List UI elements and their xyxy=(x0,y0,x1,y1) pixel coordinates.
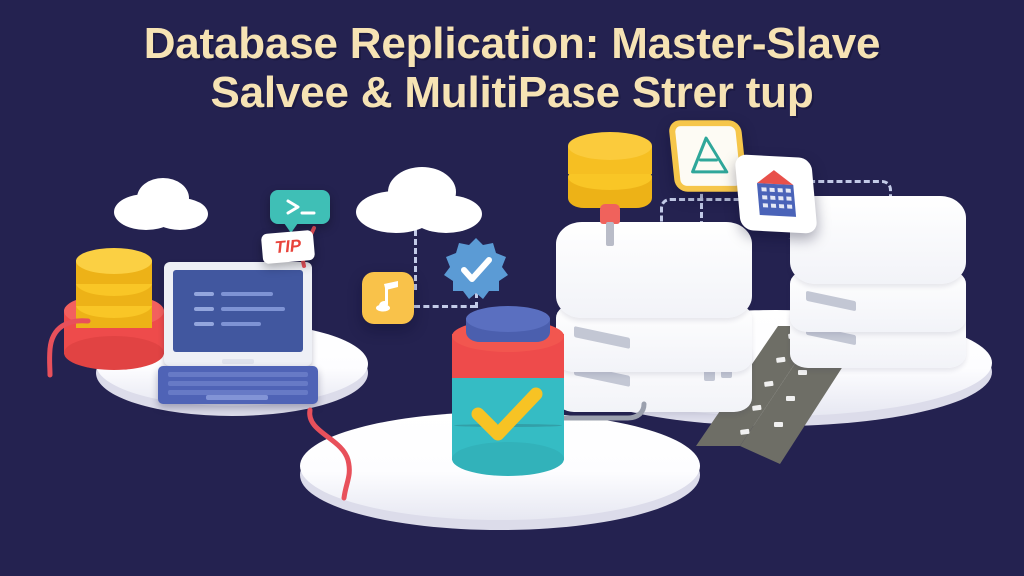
laptop-hinge xyxy=(222,359,254,364)
verified-badge-icon xyxy=(440,234,512,306)
database-cylinder-top xyxy=(562,132,658,242)
laptop-screen-row xyxy=(194,307,214,311)
laptop-screen xyxy=(173,270,303,352)
chat-bubble-icon xyxy=(270,190,330,224)
cable-center-to-rack xyxy=(556,396,676,446)
laptop-screen-row xyxy=(221,322,261,326)
db-top-stem xyxy=(606,222,614,246)
music-note-icon xyxy=(362,272,414,324)
db-top-nozzle xyxy=(600,204,620,224)
laptop-screen-row xyxy=(221,307,285,311)
calendar-glyph xyxy=(734,154,817,234)
laptop-screen-row xyxy=(194,322,214,326)
cloud-icon-left xyxy=(108,172,218,234)
server-rack-middle xyxy=(556,222,752,422)
cloud-icon-center xyxy=(352,160,492,238)
database-cylinder-center xyxy=(448,306,568,482)
checkmark-glyph xyxy=(448,306,568,482)
laptop-screen-row xyxy=(221,292,273,296)
calendar-card-icon xyxy=(734,154,817,234)
cable-platform-link xyxy=(288,402,448,512)
triangle-card-face xyxy=(675,126,742,186)
tip-badge: TIP xyxy=(261,230,315,264)
laptop-trackpad xyxy=(206,395,268,400)
tip-badge-label: TIP xyxy=(274,236,302,258)
illustration-canvas: Database Replication: Master-Slave Salve… xyxy=(0,0,1024,576)
db-left-disc1-top xyxy=(76,248,152,274)
cable-left xyxy=(30,305,120,385)
laptop xyxy=(158,262,318,404)
laptop-key-row xyxy=(168,381,308,386)
rack-layer-top xyxy=(790,196,966,284)
db-top-cap xyxy=(568,132,652,160)
triangle-glyph xyxy=(675,126,742,186)
terminal-prompt-glyph xyxy=(270,190,330,224)
laptop-screen-row xyxy=(194,292,214,296)
laptop-key-row xyxy=(168,372,308,377)
music-note-glyph xyxy=(362,272,414,324)
